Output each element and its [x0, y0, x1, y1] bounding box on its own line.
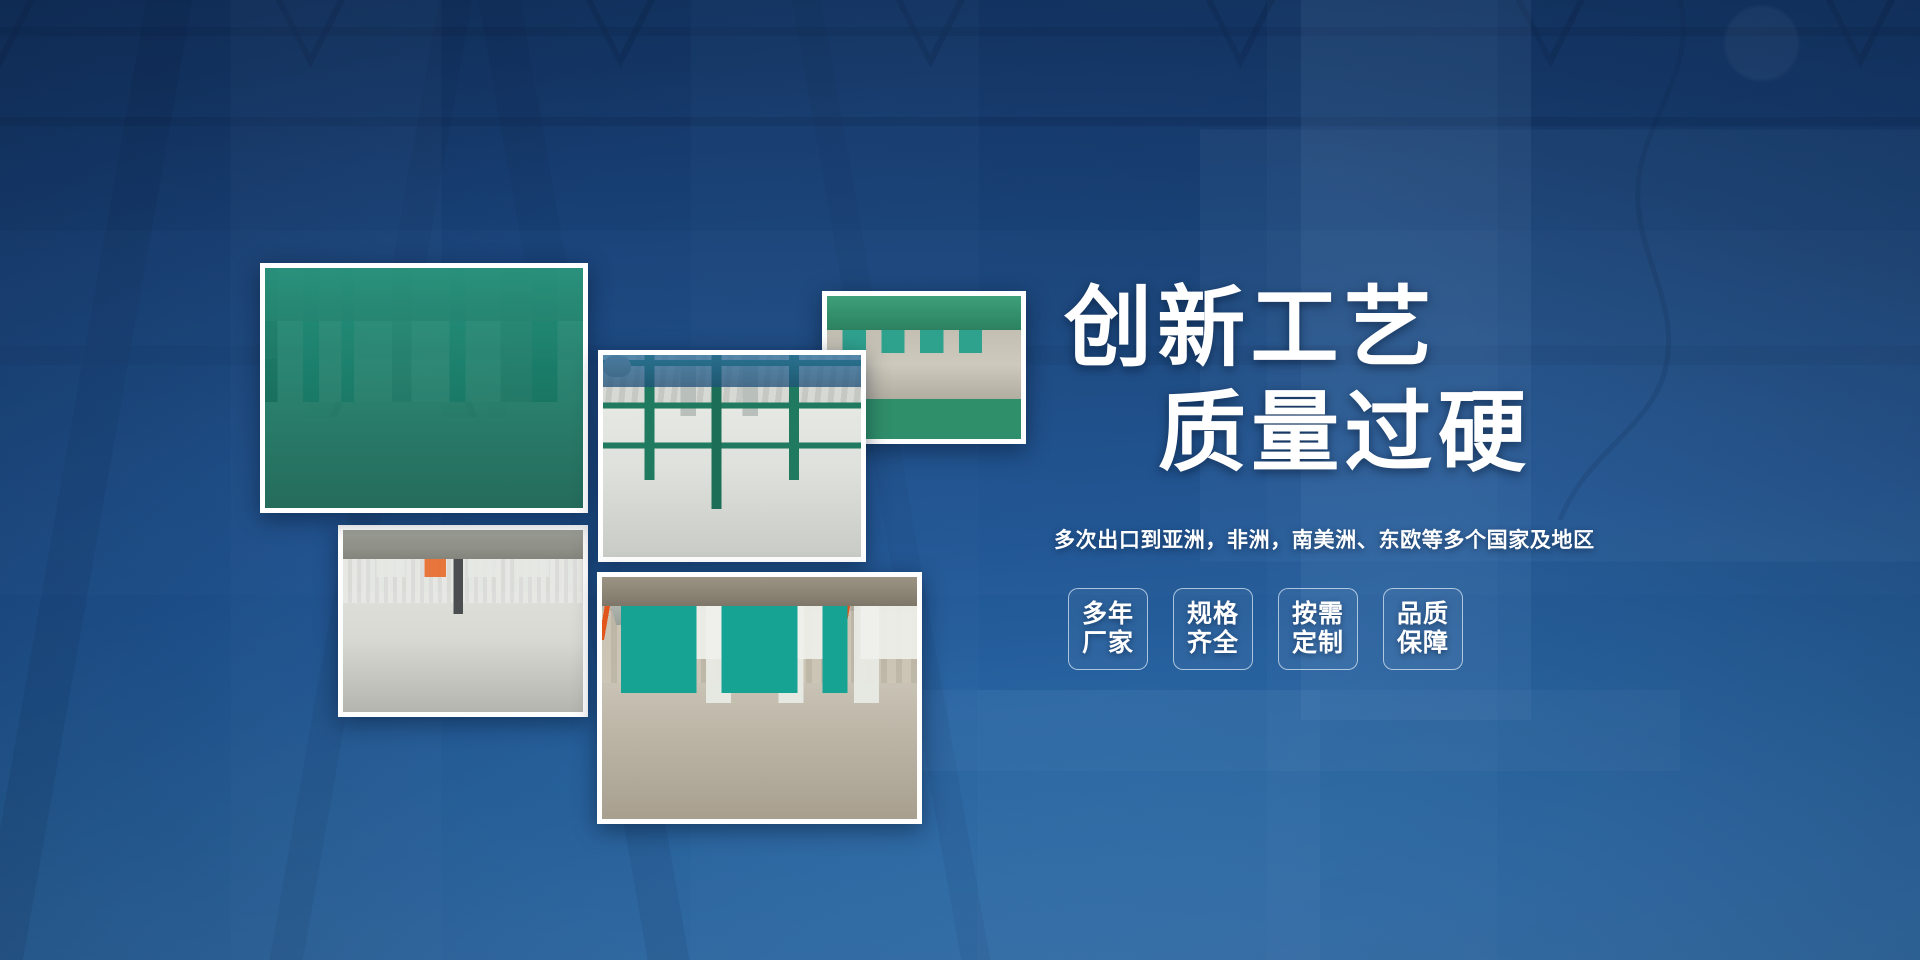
subtitle-text: 多次出口到亚洲，非洲，南美洲、东欧等多个国家及地区 [1040, 524, 1680, 554]
badge-line-2: 定制 [1292, 629, 1344, 659]
headline-line-1: 创新工艺 [1040, 280, 1680, 375]
product-photo-4 [338, 525, 588, 717]
product-photo-5 [597, 572, 922, 824]
badge-line-1: 按需 [1292, 600, 1344, 630]
background-truss-texture [0, 0, 1920, 300]
badge-line-1: 规格 [1187, 600, 1239, 630]
badge-line-1: 多年 [1082, 600, 1134, 630]
headline-block: 创新工艺 质量过硬 多次出口到亚洲，非洲，南美洲、东欧等多个国家及地区 多年 厂… [1040, 280, 1680, 670]
feature-badge-years[interactable]: 多年 厂家 [1068, 588, 1148, 670]
feature-badge-list: 多年 厂家 规格 齐全 按需 定制 品质 保障 [1040, 588, 1680, 670]
feature-badge-custom[interactable]: 按需 定制 [1278, 588, 1358, 670]
headline-line-2: 质量过硬 [1040, 385, 1680, 480]
badge-line-1: 品质 [1397, 600, 1449, 630]
badge-line-2: 保障 [1397, 629, 1449, 659]
product-photo-1 [260, 263, 588, 513]
feature-badge-quality[interactable]: 品质 保障 [1383, 588, 1463, 670]
product-photo-2 [598, 350, 866, 562]
feature-badge-specs[interactable]: 规格 齐全 [1173, 588, 1253, 670]
badge-line-2: 厂家 [1082, 629, 1134, 659]
badge-line-2: 齐全 [1187, 629, 1239, 659]
promo-banner: 创新工艺 质量过硬 多次出口到亚洲，非洲，南美洲、东欧等多个国家及地区 多年 厂… [0, 0, 1920, 960]
